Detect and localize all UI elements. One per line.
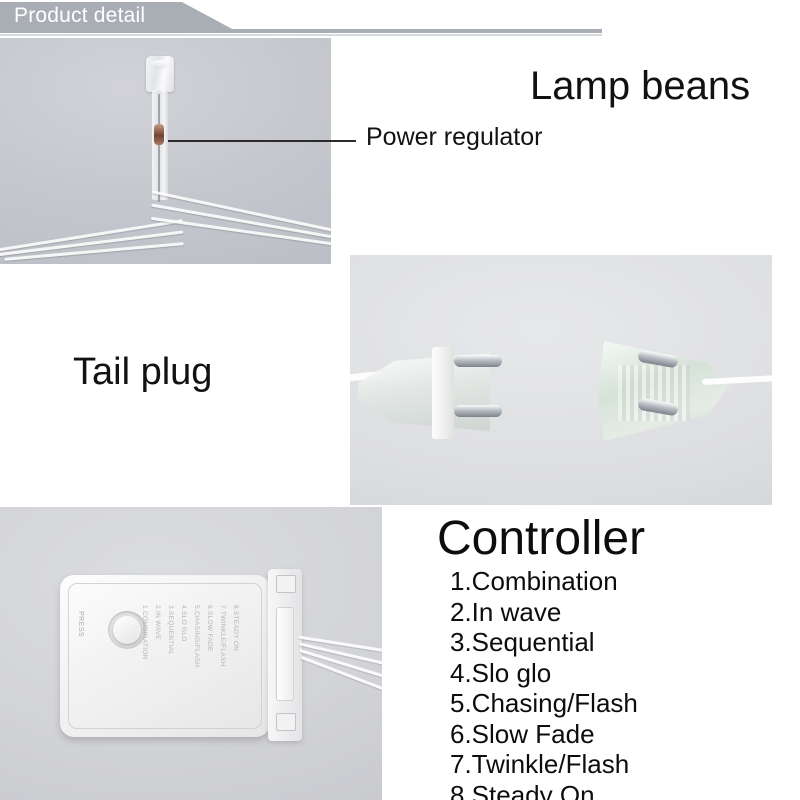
embossed-mode-item: 5.CHASING/FLASH [192, 605, 200, 667]
page-title: Product detail [14, 3, 145, 29]
controller-mount-clip [276, 575, 296, 593]
controller-side-slot [276, 607, 294, 701]
mode-list-item: 2.In wave [450, 597, 797, 628]
embossed-mode-item: 2.IN WAVE [153, 605, 161, 640]
mode-list-item: 7.Twinkle/Flash [450, 749, 797, 780]
embossed-mode-item: 7.TWINKLE/FLASH [218, 605, 226, 667]
header-rule-light [0, 34, 602, 36]
mode-list-item: 1.Combination [450, 566, 797, 597]
plug-collar-left [432, 347, 454, 439]
photo-lamp-bead [0, 38, 331, 264]
plug-pin [454, 355, 502, 367]
embossed-mode-list: 1.COMBINATION 2.IN WAVE 3.SEQUENTIAL 4.S… [148, 605, 276, 715]
wire-strand [152, 190, 331, 232]
led-bulb-head [146, 56, 174, 92]
controller-housing: PRESS 1.COMBINATION 2.IN WAVE 3.SEQUENTI… [60, 575, 270, 737]
power-regulator-leader-line [168, 140, 356, 142]
embossed-mode-item: 1.COMBINATION [140, 605, 148, 660]
power-regulator-resistor [154, 124, 164, 145]
photo-tail-plug [350, 255, 772, 505]
product-detail-page: Product detail Power regulator Lamp bean… [0, 0, 800, 800]
mode-list-item: 3.Sequential [450, 627, 797, 658]
header-rule-dark [0, 29, 602, 33]
controller-heading: Controller [437, 512, 797, 566]
embossed-mode-item: 6.SLOW FADE [205, 605, 213, 652]
label-tail-plug: Tail plug [73, 349, 212, 395]
photo-controller-box: PRESS 1.COMBINATION 2.IN WAVE 3.SEQUENTI… [0, 507, 382, 800]
controller-mode-list: 1.Combination 2.In wave 3.Sequential 4.S… [437, 566, 797, 800]
mode-list-item: 4.Slo glo [450, 658, 797, 689]
plug-pin [454, 405, 502, 417]
controller-info-block: Controller 1.Combination 2.In wave 3.Seq… [437, 512, 797, 800]
mode-list-item: 5.Chasing/Flash [450, 688, 797, 719]
led-bulb-neck [152, 90, 168, 200]
led-lead-wire [158, 94, 160, 202]
mode-list-item: 6.Slow Fade [450, 719, 797, 750]
embossed-mode-item: 4.SLO GLO [179, 605, 187, 642]
embossed-mode-item: 3.SEQUENTIAL [166, 605, 174, 655]
plug-ridges-right [618, 365, 690, 421]
label-lamp-beans: Lamp beans [530, 62, 750, 110]
embossed-mode-item: 8.STEADY ON [231, 605, 239, 651]
controller-push-button [113, 616, 141, 644]
embossed-press-text: PRESS [77, 611, 84, 637]
controller-mount-clip [276, 713, 296, 731]
callout-power-regulator: Power regulator [366, 120, 542, 154]
mode-list-item: 8.Steady On [450, 780, 797, 800]
